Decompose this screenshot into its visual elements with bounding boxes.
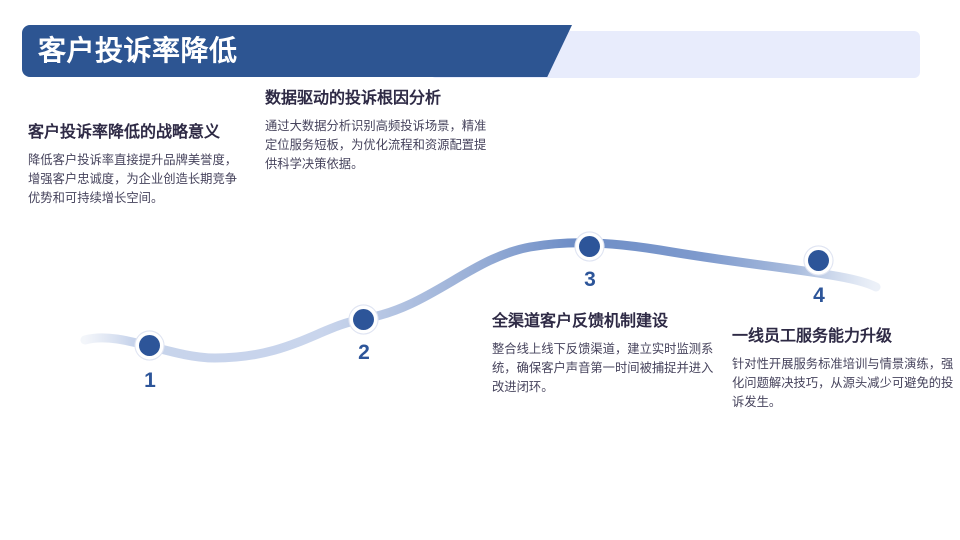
content-block-1: 客户投诉率降低的战略意义 降低客户投诉率直接提升品牌美誉度，增强客户忠诚度，为企… — [28, 122, 238, 208]
timeline-node-2[interactable] — [353, 309, 374, 330]
timeline-node-4[interactable] — [808, 250, 829, 271]
block-1-title: 客户投诉率降低的战略意义 — [28, 122, 238, 144]
content-block-3: 全渠道客户反馈机制建设 整合线上线下反馈渠道，建立实时监测系统，确保客户声音第一… — [492, 311, 714, 397]
content-block-2: 数据驱动的投诉根因分析 通过大数据分析识别高频投诉场景，精准定位服务短板，为优化… — [265, 88, 487, 174]
block-1-body: 降低客户投诉率直接提升品牌美誉度，增强客户忠诚度，为企业创造长期竞争优势和可持续… — [28, 151, 238, 208]
slide-canvas: 客户投诉率降低 1 2 3 4 客户投诉率降低的战略意义 降低客户投诉率直接提升… — [0, 0, 960, 540]
block-2-body: 通过大数据分析识别高频投诉场景，精准定位服务短板，为优化流程和资源配置提供科学决… — [265, 117, 487, 174]
timeline-number-4: 4 — [804, 285, 834, 306]
block-4-title: 一线员工服务能力升级 — [732, 326, 954, 348]
timeline-number-3: 3 — [575, 269, 605, 290]
timeline-number-2: 2 — [349, 342, 379, 363]
block-4-body: 针对性开展服务标准培训与情景演练，强化问题解决技巧，从源头减少可避免的投诉发生。 — [732, 355, 954, 412]
block-3-title: 全渠道客户反馈机制建设 — [492, 311, 714, 333]
block-3-body: 整合线上线下反馈渠道，建立实时监测系统，确保客户声音第一时间被捕捉并进入改进闭环… — [492, 340, 714, 397]
timeline-node-3[interactable] — [579, 236, 600, 257]
timeline-node-1[interactable] — [139, 335, 160, 356]
timeline-number-1: 1 — [135, 370, 165, 391]
page-title: 客户投诉率降低 — [38, 25, 238, 77]
block-2-title: 数据驱动的投诉根因分析 — [265, 88, 487, 110]
content-block-4: 一线员工服务能力升级 针对性开展服务标准培训与情景演练，强化问题解决技巧，从源头… — [732, 326, 954, 412]
